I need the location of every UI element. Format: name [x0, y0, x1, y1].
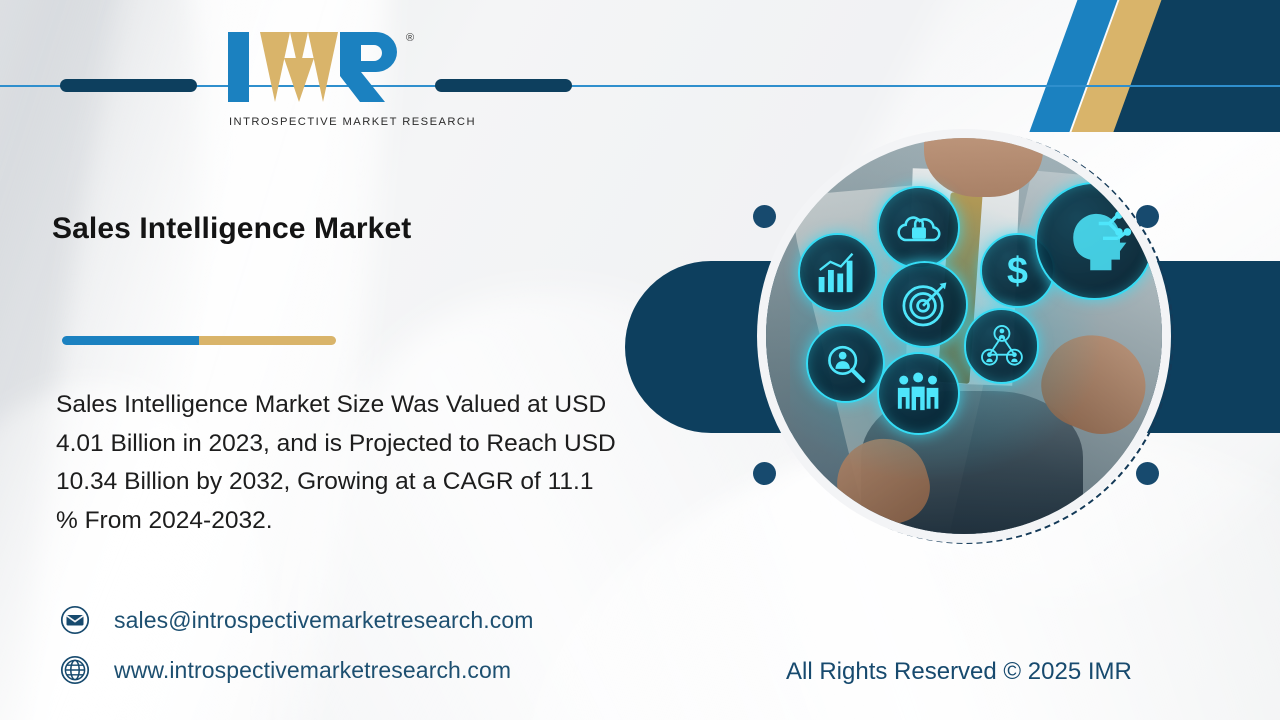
accent-bar-gold — [199, 336, 336, 345]
accent-bar-blue — [62, 336, 199, 345]
people-group-icon — [877, 352, 960, 435]
header-bar-left — [60, 79, 197, 92]
hero-photo: $ — [766, 138, 1162, 534]
copyright-text: All Rights Reserved © 2025 IMR — [786, 658, 1132, 686]
imr-logo: ® INTROSPECTIVE MARKET RESEARCH — [228, 26, 420, 136]
bar-chart-icon — [798, 233, 877, 312]
network-people-icon — [964, 308, 1039, 383]
page-title: Sales Intelligence Market — [52, 212, 411, 246]
website-url[interactable]: www.introspectivemarketresearch.com — [114, 657, 511, 684]
svg-text:$: $ — [1007, 250, 1028, 292]
ai-head-icon — [1035, 182, 1154, 301]
accent-bar — [62, 336, 336, 345]
cloud-lock-icon — [877, 186, 960, 269]
contact-email[interactable]: sales@introspectivemarketresearch.com — [60, 605, 533, 635]
registered-mark-icon: ® — [406, 32, 414, 44]
logo-tagline: INTROSPECTIVE MARKET RESEARCH — [229, 116, 476, 128]
globe-icon — [60, 655, 90, 685]
contact-website[interactable]: www.introspectivemarketresearch.com — [60, 655, 511, 685]
hero-photo-image: $ — [766, 138, 1162, 534]
target-icon — [881, 261, 968, 348]
logo-mark: ® — [228, 26, 420, 102]
poster-canvas: ® INTROSPECTIVE MARKET RESEARCH Sales In… — [0, 0, 1280, 720]
logo-letter-m — [260, 32, 338, 102]
market-summary-text: Sales Intelligence Market Size Was Value… — [56, 386, 616, 540]
email-address[interactable]: sales@introspectivemarketresearch.com — [114, 607, 533, 634]
magnifier-person-icon — [806, 324, 885, 403]
logo-letter-i — [228, 32, 249, 102]
header-bar-right — [435, 79, 572, 92]
envelope-icon — [60, 605, 90, 635]
corner-stripes — [1020, 0, 1280, 132]
logo-letter-r — [340, 32, 402, 102]
